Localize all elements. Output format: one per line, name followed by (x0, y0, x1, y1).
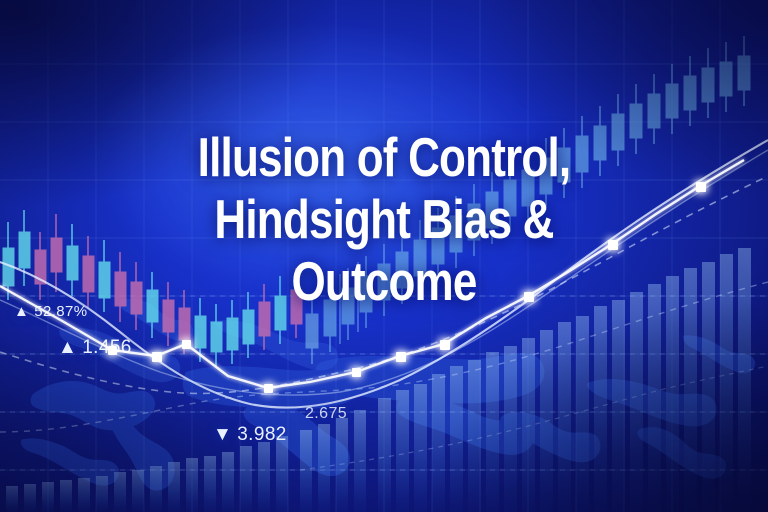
node-polyline-series (0, 0, 768, 512)
hero-banner: ▲52.87% ▲1.456 ▼3.982 2.675 Illusion of … (0, 0, 768, 512)
